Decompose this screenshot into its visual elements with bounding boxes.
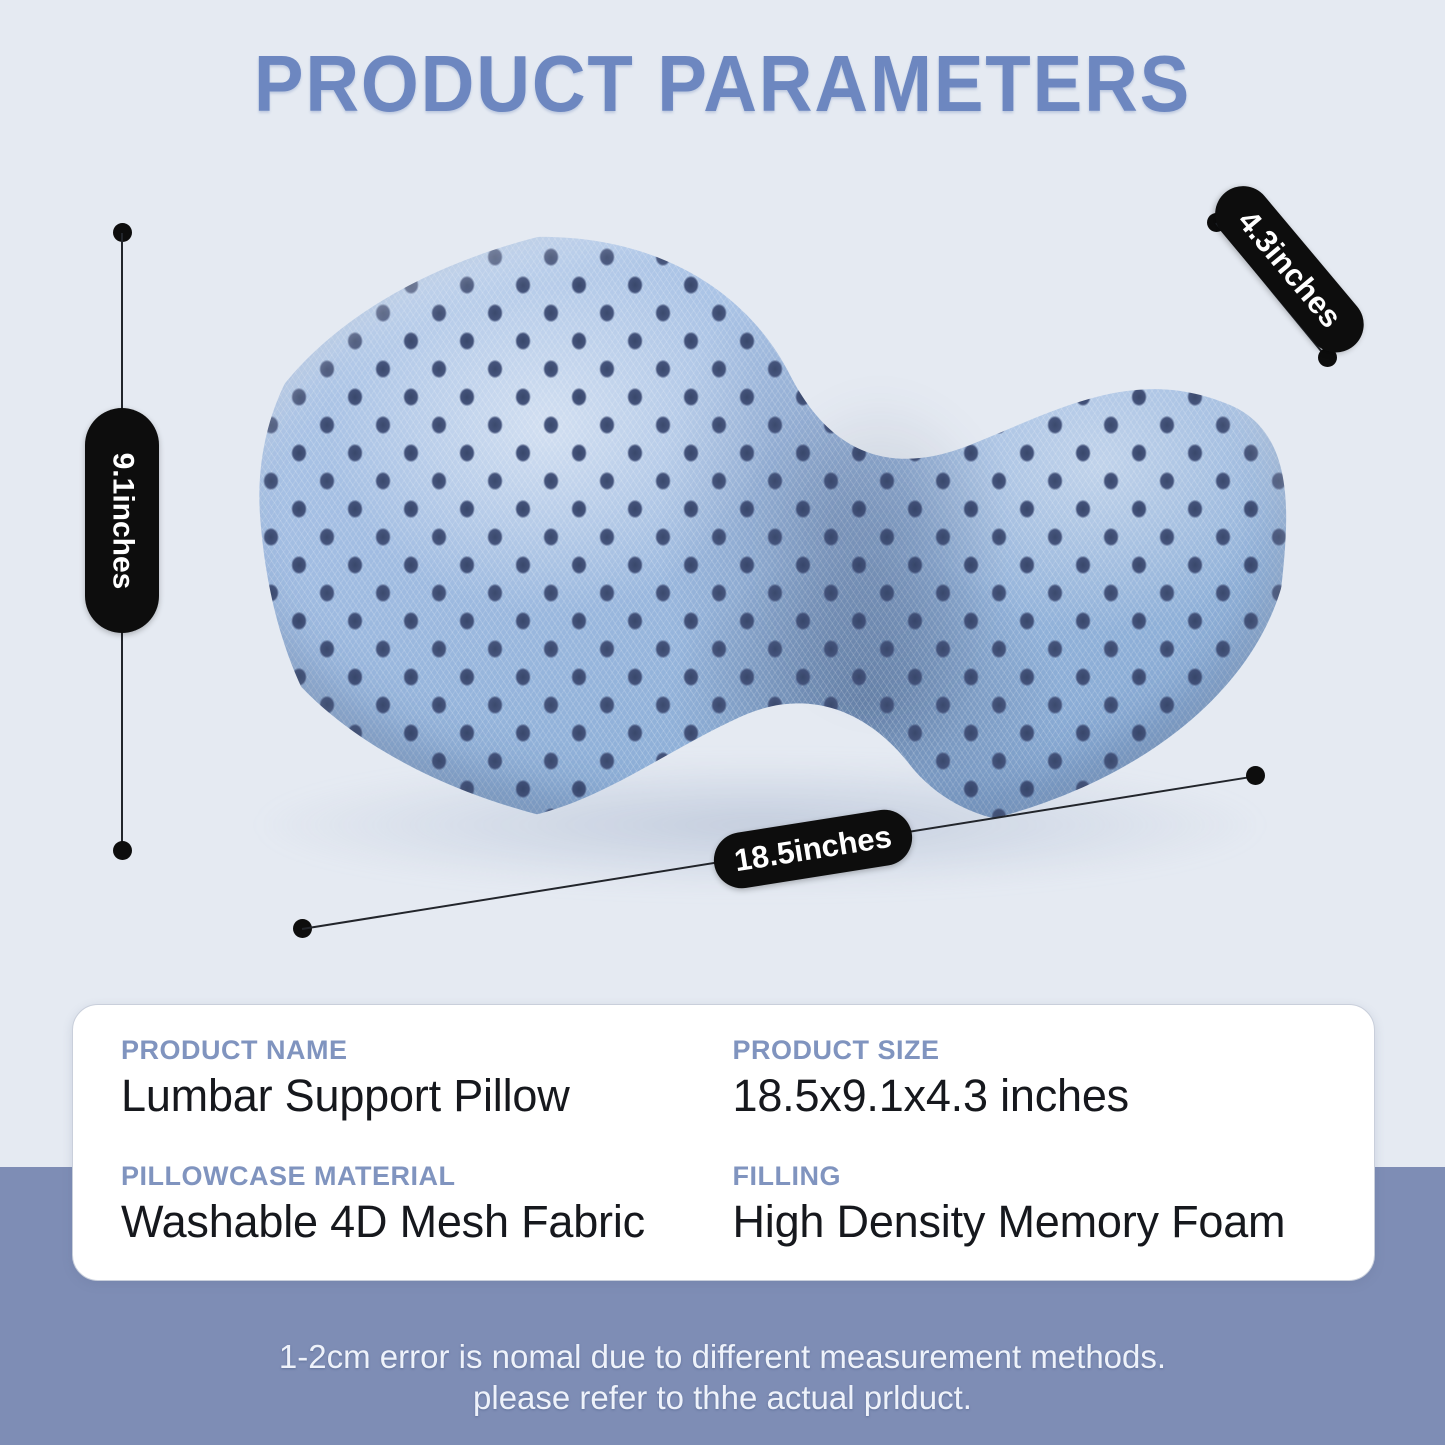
spec-filling-value: High Density Memory Foam — [733, 1198, 1331, 1245]
spec-product-size-value: 18.5x9.1x4.3 inches — [733, 1072, 1331, 1119]
height-dimension-label: 9.1inches — [85, 408, 159, 633]
width-dimension-dot-right — [1246, 766, 1265, 785]
disclaimer-line-2: please refer to thhe actual prlduct. — [0, 1377, 1445, 1418]
spec-product-name-label: PRODUCT NAME — [121, 1035, 719, 1066]
height-dimension-dot-bottom — [113, 841, 132, 860]
lumbar-pillow-image — [230, 215, 1290, 840]
page-title: PRODUCT PARAMETERS — [51, 38, 1395, 130]
disclaimer-line-1: 1-2cm error is nomal due to different me… — [0, 1336, 1445, 1377]
spec-product-name: PRODUCT NAME Lumbar Support Pillow — [117, 1035, 719, 1155]
spec-product-size-label: PRODUCT SIZE — [733, 1035, 1331, 1066]
product-parameters-infographic: PRODUCT PARAMETERS 9.1inches 18.5inches … — [0, 0, 1445, 1445]
spec-filling: FILLING High Density Memory Foam — [729, 1161, 1331, 1281]
pillow-body-shape — [230, 215, 1290, 840]
spec-filling-label: FILLING — [733, 1161, 1331, 1192]
measurement-disclaimer: 1-2cm error is nomal due to different me… — [0, 1336, 1445, 1419]
height-dimension-text: 9.1inches — [105, 452, 139, 589]
spec-product-size: PRODUCT SIZE 18.5x9.1x4.3 inches — [729, 1035, 1331, 1155]
spec-pillowcase-material-label: PILLOWCASE MATERIAL — [121, 1161, 719, 1192]
specifications-card: PRODUCT NAME Lumbar Support Pillow PRODU… — [72, 1004, 1375, 1281]
spec-pillowcase-material: PILLOWCASE MATERIAL Washable 4D Mesh Fab… — [117, 1161, 719, 1281]
spec-pillowcase-material-value: Washable 4D Mesh Fabric — [121, 1198, 719, 1245]
spec-product-name-value: Lumbar Support Pillow — [121, 1072, 719, 1119]
